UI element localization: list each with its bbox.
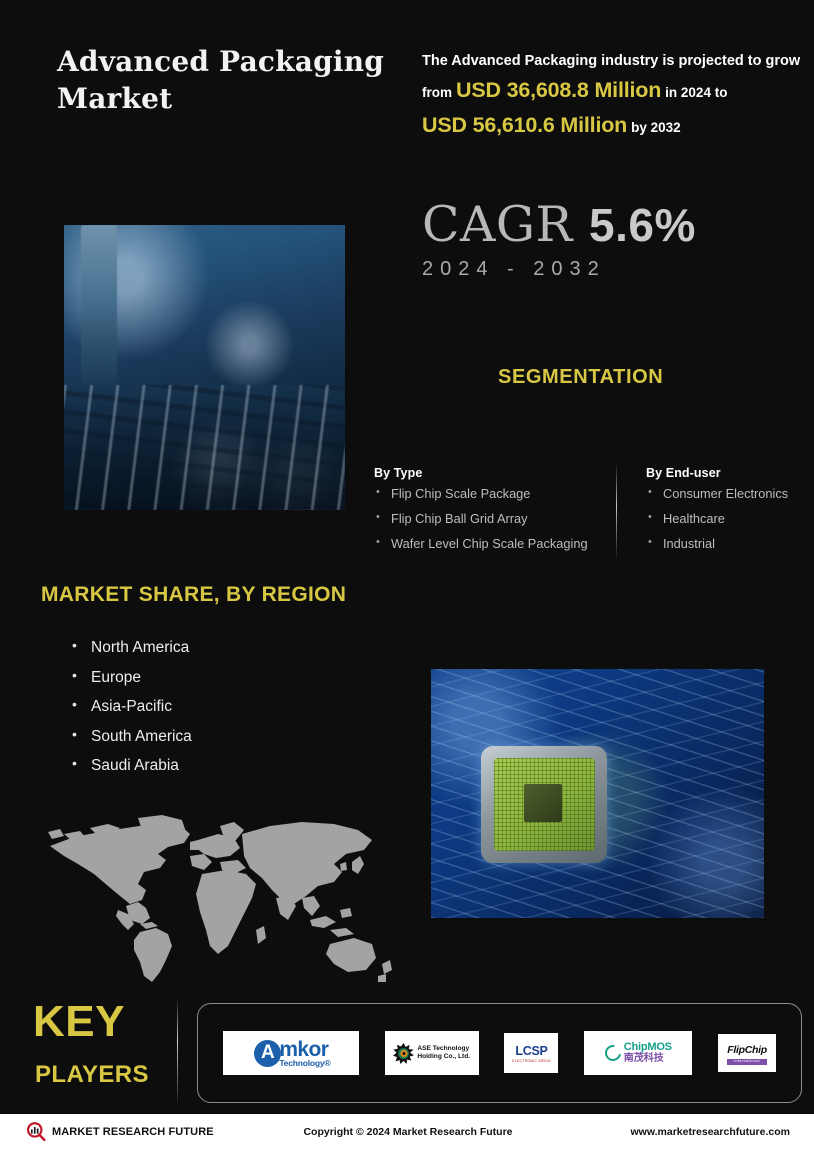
- amkor-mark-icon: A: [254, 1040, 281, 1067]
- logo-chipmos[interactable]: ChipMOS 南茂科技: [584, 1031, 692, 1075]
- amkor-subtext: Technology®: [279, 1059, 330, 1068]
- segmentation-heading: By Type: [374, 466, 604, 480]
- pcb-assembly-image: [64, 225, 345, 510]
- market-share-region-list: North America Europe Asia-Pacific South …: [70, 640, 192, 788]
- footer-copyright: Copyright © 2024 Market Research Future: [276, 1126, 540, 1138]
- lcsp-subtext: ELECTRONIC MEDIA: [512, 1060, 551, 1064]
- chipmos-swirl-icon: [602, 1042, 624, 1064]
- list-item: Saudi Arabia: [70, 758, 192, 774]
- cagr-period: 2024 - 2032: [422, 258, 696, 281]
- list-item: Healthcare: [646, 513, 811, 526]
- list-item: Flip Chip Scale Package: [374, 488, 604, 501]
- logo-ase-technology[interactable]: ASE Technology Holding Co., Ltd.: [385, 1031, 479, 1075]
- key-players-divider: [177, 1000, 178, 1102]
- segmentation-column-by-end-user: By End-user Consumer Electronics Healthc…: [646, 466, 811, 562]
- circuit-board-chip-image: [431, 669, 764, 918]
- footer-bar: MARKET RESEARCH FUTURE Copyright © 2024 …: [0, 1114, 814, 1150]
- chip-die: [494, 758, 595, 852]
- logo-lcsp[interactable]: LCSP ELECTRONIC MEDIA: [504, 1033, 558, 1073]
- key-players-label-key: KEY: [33, 1000, 125, 1044]
- segmentation-divider: [616, 462, 617, 560]
- chip-core: [524, 784, 562, 821]
- footer-brand-name: MARKET RESEARCH FUTURE: [52, 1126, 214, 1138]
- ase-wordmark-line2: Holding Co., Ltd.: [417, 1053, 470, 1060]
- growth-from-label: from: [422, 85, 452, 100]
- market-share-title: MARKET SHARE, BY REGION: [41, 583, 346, 607]
- segmentation-column-by-type: By Type Flip Chip Scale Package Flip Chi…: [374, 466, 604, 562]
- page-title: Advanced Packaging Market: [57, 44, 397, 118]
- chip-package: [481, 746, 608, 863]
- segmentation-title: SEGMENTATION: [498, 366, 663, 389]
- growth-mid-label: in 2024 to: [665, 85, 727, 100]
- list-item: South America: [70, 729, 192, 745]
- cagr-block: CAGR 5.6% 2024 - 2032: [422, 200, 696, 281]
- ase-starburst-icon: [393, 1043, 414, 1064]
- list-item: Consumer Electronics: [646, 488, 811, 501]
- list-item: Wafer Level Chip Scale Packaging: [374, 538, 604, 551]
- lcsp-wordmark: LCSP: [515, 1044, 547, 1058]
- logo-flipchip-international[interactable]: FlipChip International: [718, 1034, 776, 1072]
- footer-brand[interactable]: MARKET RESEARCH FUTURE: [26, 1122, 276, 1142]
- market-research-future-logo-icon: [26, 1122, 46, 1142]
- chipmos-chinese-name: 南茂科技: [624, 1054, 672, 1065]
- list-item: Asia-Pacific: [70, 699, 192, 715]
- logo-amkor-technology[interactable]: A mkor Technology®: [223, 1031, 359, 1075]
- list-item: North America: [70, 640, 192, 656]
- footer-url[interactable]: www.marketresearchfuture.com: [540, 1126, 790, 1138]
- list-item: Industrial: [646, 538, 811, 551]
- flipchip-wordmark: FlipChip: [727, 1044, 767, 1056]
- world-map-icon: [34, 812, 396, 992]
- cagr-value: 5.6%: [589, 199, 696, 251]
- growth-lead: The Advanced Packaging industry is proje…: [422, 50, 798, 73]
- segmentation-heading: By End-user: [646, 466, 811, 480]
- growth-value-2024: USD 36,608.8 Million: [456, 78, 661, 102]
- cagr-label: CAGR: [422, 196, 573, 253]
- growth-end-label: by 2032: [631, 120, 681, 135]
- list-item: Flip Chip Ball Grid Array: [374, 513, 604, 526]
- chipmos-wordmark: ChipMOS: [624, 1042, 672, 1054]
- list-item: Europe: [70, 670, 192, 686]
- flipchip-subtext: International: [727, 1059, 767, 1065]
- cagr-headline: CAGR 5.6%: [422, 200, 696, 249]
- ase-wordmark-line1: ASE Technology: [417, 1045, 469, 1052]
- amkor-wordmark: mkor: [279, 1039, 330, 1060]
- growth-value-2032: USD 56,610.6 Million: [422, 113, 627, 137]
- key-players-logo-box: A mkor Technology® ASE Tec: [197, 1003, 802, 1103]
- growth-statement: The Advanced Packaging industry is proje…: [422, 50, 798, 143]
- infographic-page: Advanced Packaging Market The Advanced P…: [0, 0, 814, 1150]
- key-players-label-players: PLAYERS: [35, 1063, 149, 1087]
